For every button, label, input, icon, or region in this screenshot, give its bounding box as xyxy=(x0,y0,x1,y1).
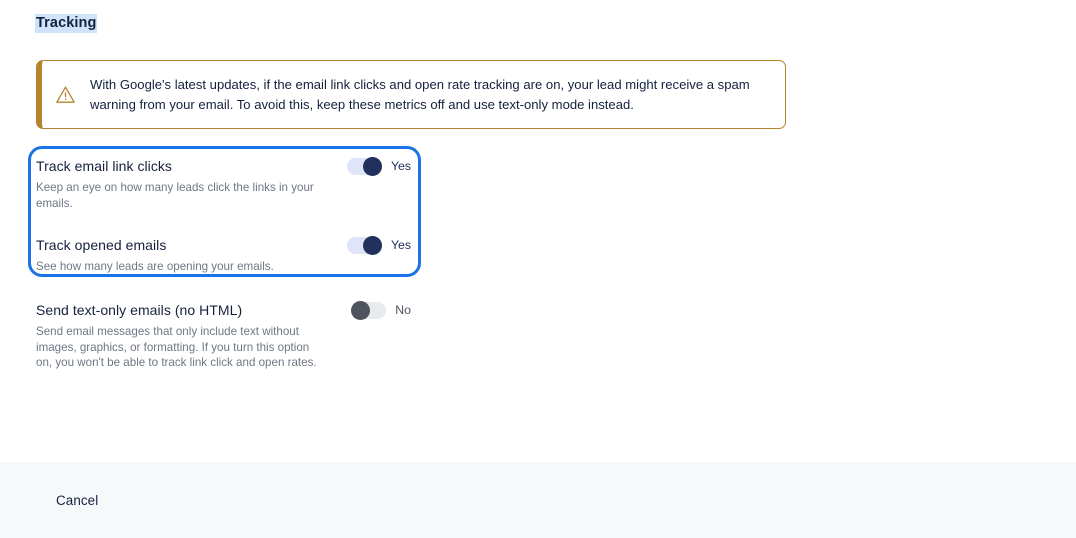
setting-description: Keep an eye on how many leads click the … xyxy=(36,180,328,211)
toggle-track-email-link-clicks[interactable]: Yes xyxy=(347,158,411,175)
toggle-value-label: Yes xyxy=(391,237,411,254)
cancel-button[interactable]: Cancel xyxy=(52,487,102,514)
setting-description: See how many leads are opening your emai… xyxy=(36,259,328,275)
toggle-switch[interactable] xyxy=(351,302,386,319)
toggle-switch[interactable] xyxy=(347,158,382,175)
alert-message: With Google's latest updates, if the ema… xyxy=(90,75,770,115)
warning-triangle-icon xyxy=(54,84,76,106)
dialog-footer: Cancel xyxy=(0,462,1076,538)
setting-track-email-link-clicks: Track email link clicks Yes Keep an eye … xyxy=(36,156,411,211)
toggle-value-label: Yes xyxy=(391,158,411,175)
setting-track-opened-emails: Track opened emails Yes See how many lea… xyxy=(36,235,411,275)
toggle-knob xyxy=(363,157,382,176)
google-tracking-warning-alert: With Google's latest updates, if the ema… xyxy=(36,60,786,129)
setting-label: Track opened emails xyxy=(36,235,166,255)
setting-label: Send text-only emails (no HTML) xyxy=(36,300,242,320)
toggle-switch[interactable] xyxy=(347,237,382,254)
toggle-send-text-only-emails[interactable]: No xyxy=(351,302,411,319)
toggle-knob xyxy=(351,301,370,320)
toggle-knob xyxy=(363,236,382,255)
toggle-track-opened-emails[interactable]: Yes xyxy=(347,237,411,254)
setting-send-text-only-emails: Send text-only emails (no HTML) No Send … xyxy=(36,300,411,371)
tracking-settings-page: Tracking With Google's latest updates, i… xyxy=(0,0,1076,462)
toggle-value-label: No xyxy=(395,302,411,319)
page-title: Tracking xyxy=(35,14,97,33)
setting-label: Track email link clicks xyxy=(36,156,172,176)
setting-description: Send email messages that only include te… xyxy=(36,324,328,371)
